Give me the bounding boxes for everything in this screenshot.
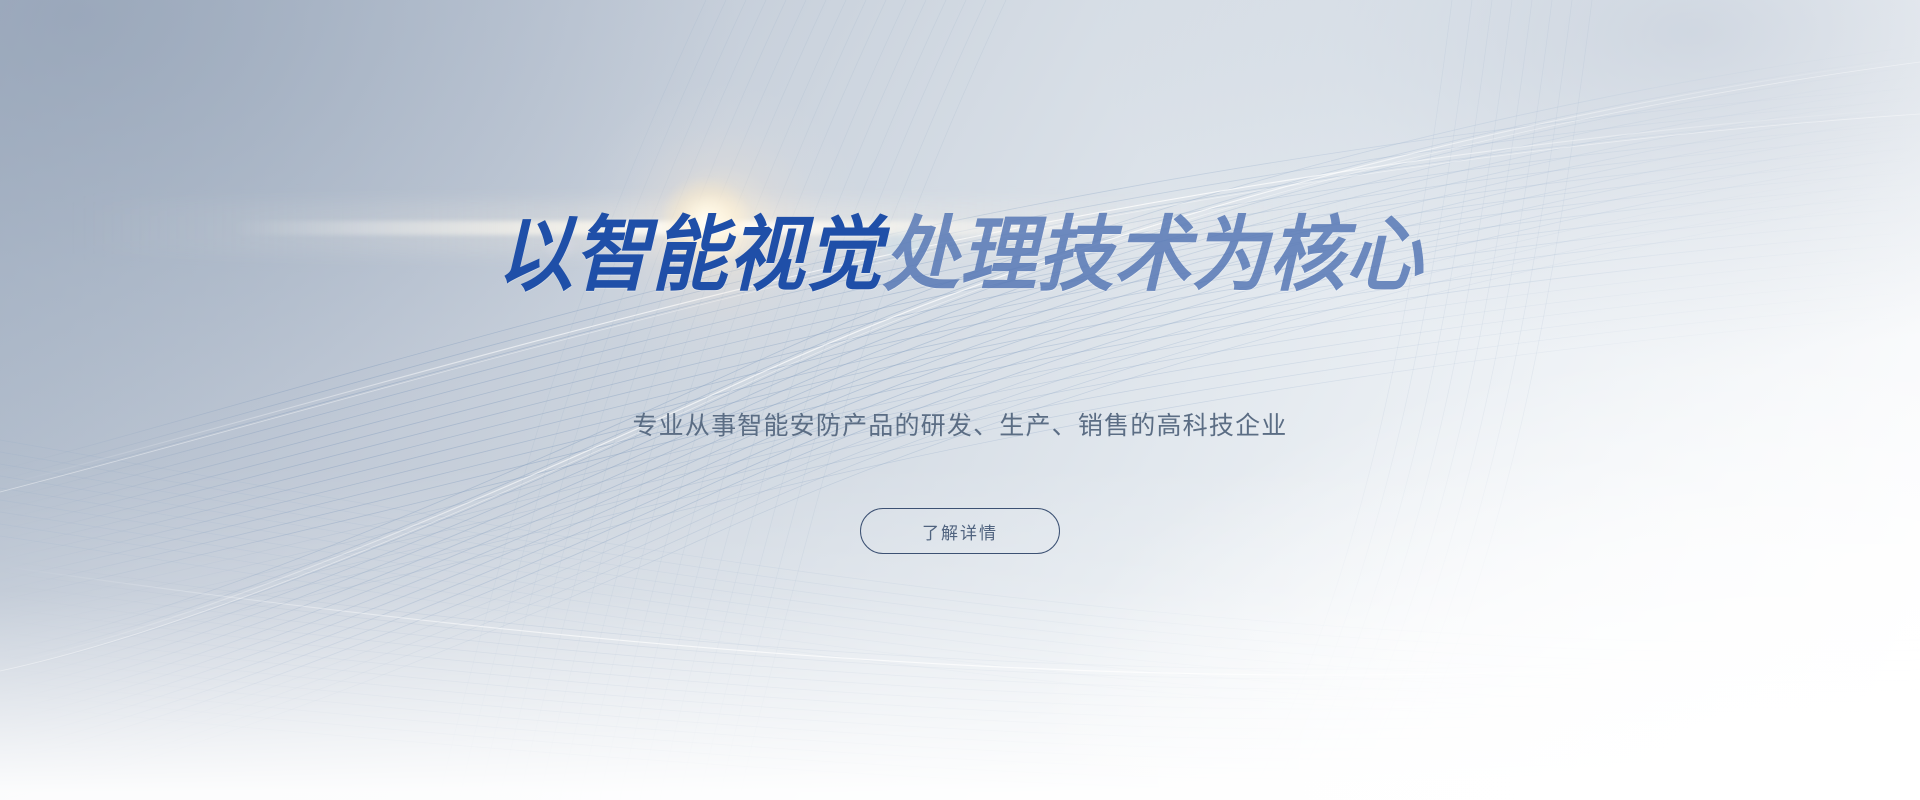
page-subtitle: 专业从事智能安防产品的研发、生产、销售的高科技企业 [0, 406, 1920, 442]
hero-banner: 以智能视觉处理技术为核心 专业从事智能安防产品的研发、生产、销售的高科技企业 了… [0, 0, 1920, 800]
cta-container: 了解详情 [0, 508, 1920, 554]
page-title-soft-segment: 处理技术为核心 [883, 210, 1423, 301]
page-title: 以智能视觉处理技术为核心 [67, 212, 1853, 301]
learn-more-button[interactable]: 了解详情 [860, 508, 1060, 554]
hero-content: 以智能视觉处理技术为核心 专业从事智能安防产品的研发、生产、销售的高科技企业 了… [0, 0, 1920, 800]
page-title-strong-segment: 以智能视觉 [497, 210, 883, 301]
